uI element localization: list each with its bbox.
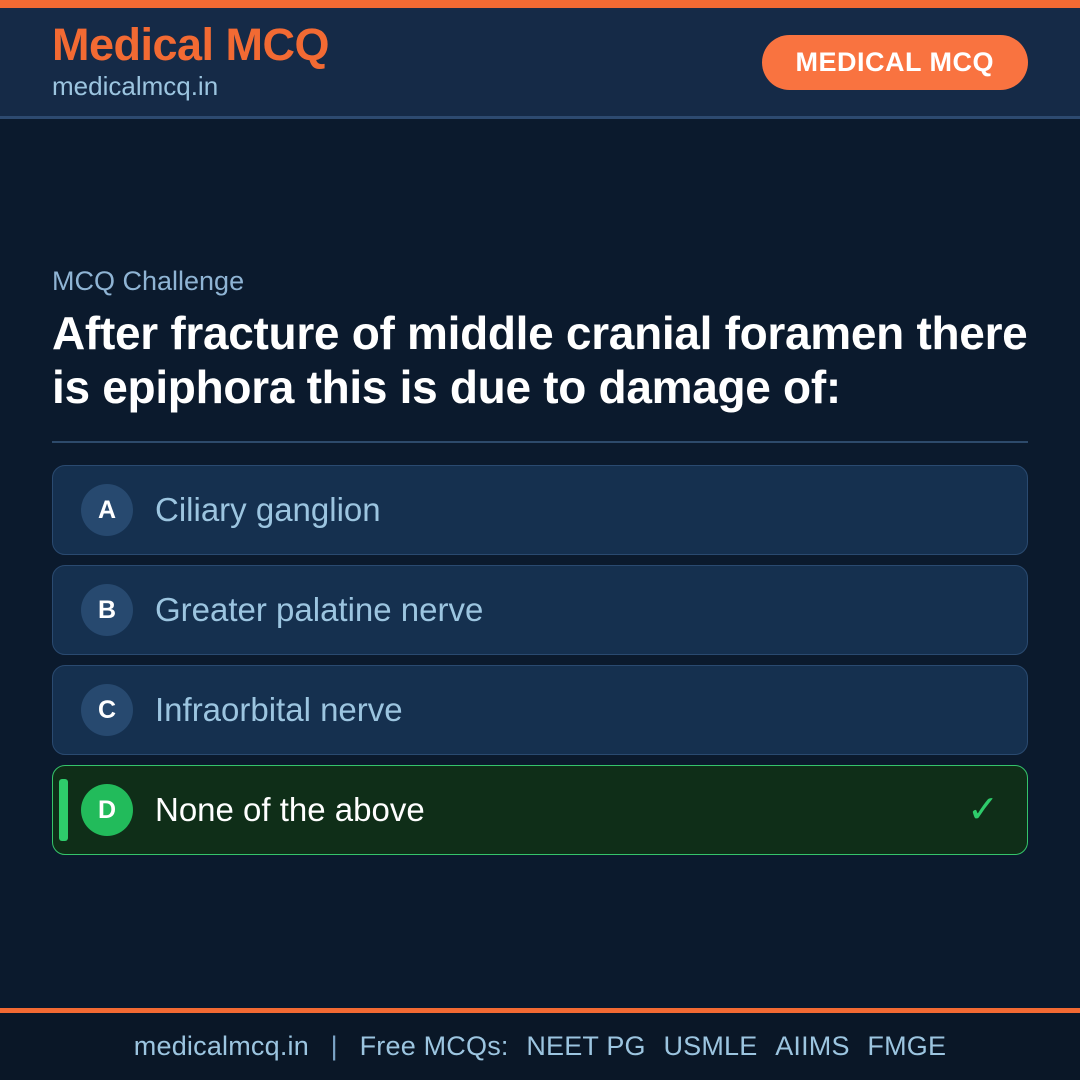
question-text: After fracture of middle cranial foramen… [52, 307, 1028, 414]
header-badge: MEDICAL MCQ [762, 35, 1029, 90]
option-letter-badge: D [81, 784, 133, 836]
option-label: Ciliary ganglion [155, 490, 381, 530]
option-label: Greater palatine nerve [155, 590, 483, 630]
option-letter-badge: A [81, 484, 133, 536]
footer-exams: NEET PG USMLE AIIMS FMGE [516, 1031, 946, 1061]
check-icon: ✓ [967, 791, 999, 829]
brand: Medical MCQ medicalmcq.in [52, 21, 329, 103]
options-list: A Ciliary ganglion ✓ B Greater palatine … [52, 465, 1028, 855]
footer-exam-aiims: AIIMS [775, 1031, 850, 1061]
footer-text: medicalmcq.in | Free MCQs: NEET PG USMLE… [134, 1031, 946, 1062]
mcq-card: Medical MCQ medicalmcq.in MEDICAL MCQ MC… [0, 0, 1080, 1080]
option-a[interactable]: A Ciliary ganglion ✓ [52, 465, 1028, 555]
footer-exam-fmge: FMGE [867, 1031, 946, 1061]
footer-separator: | [317, 1031, 352, 1061]
option-label: Infraorbital nerve [155, 690, 403, 730]
footer: medicalmcq.in | Free MCQs: NEET PG USMLE… [0, 1008, 1080, 1080]
option-label: None of the above [155, 790, 425, 830]
option-d[interactable]: D None of the above ✓ [52, 765, 1028, 855]
option-letter-badge: B [81, 584, 133, 636]
main-content: MCQ Challenge After fracture of middle c… [0, 119, 1080, 1008]
footer-exams-label: Free MCQs: [360, 1031, 509, 1061]
brand-title: Medical MCQ [52, 21, 329, 68]
correct-accent-bar [59, 779, 68, 841]
option-letter-badge: C [81, 684, 133, 736]
footer-site: medicalmcq.in [134, 1031, 309, 1061]
top-accent-bar [0, 0, 1080, 8]
eyebrow-label: MCQ Challenge [52, 265, 1028, 297]
footer-exam-neetpg: NEET PG [526, 1031, 645, 1061]
section-divider [52, 441, 1028, 443]
option-c[interactable]: C Infraorbital nerve ✓ [52, 665, 1028, 755]
option-b[interactable]: B Greater palatine nerve ✓ [52, 565, 1028, 655]
header: Medical MCQ medicalmcq.in MEDICAL MCQ [0, 8, 1080, 119]
brand-subtitle: medicalmcq.in [52, 70, 329, 103]
footer-exam-usmle: USMLE [663, 1031, 757, 1061]
